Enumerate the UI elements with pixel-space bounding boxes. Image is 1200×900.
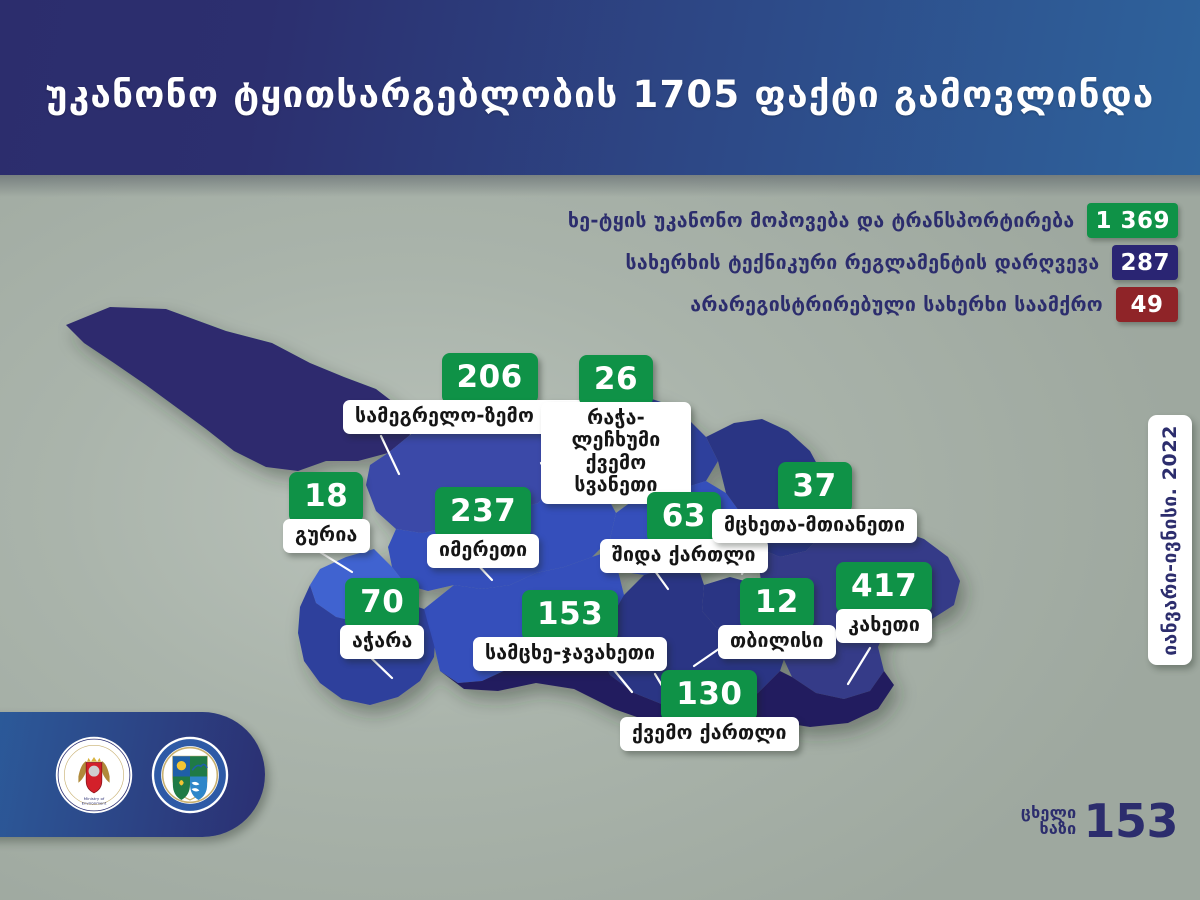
region-name-label: შიდა ქართლი bbox=[600, 539, 768, 573]
region-name-label: სამცხე-ჯავახეთი bbox=[473, 637, 667, 671]
ministry-logo-bar: Ministry of Environment bbox=[0, 712, 265, 837]
hotline-number: 153 bbox=[1083, 800, 1178, 842]
legend-label: ხე-ტყის უკანონო მოპოვება და ტრანსპორტირე… bbox=[568, 209, 1075, 232]
environmental-supervision-department-emblem-icon bbox=[151, 736, 229, 814]
region-name-label: კახეთი bbox=[836, 609, 932, 643]
legend-label: არარეგისტრირებული სახერხი საამქრო bbox=[690, 293, 1103, 316]
marker-tbilisi[interactable]: 12 თბილისი bbox=[718, 578, 836, 659]
date-range-tab: იანვარი-ივნისი. 2022 bbox=[1148, 415, 1192, 665]
region-name-label: მცხეთა-მთიანეთი bbox=[712, 509, 917, 543]
region-value-badge: 153 bbox=[522, 590, 618, 641]
legend-value-badge: 49 bbox=[1116, 287, 1178, 322]
marker-kakheti[interactable]: 417 კახეთი bbox=[836, 562, 932, 643]
marker-guria[interactable]: 18 გურია bbox=[283, 472, 370, 553]
svg-text:Environment: Environment bbox=[82, 800, 107, 805]
hotline-block: ცხელი ხაზი 153 bbox=[1021, 800, 1178, 842]
region-value-badge: 26 bbox=[579, 355, 653, 406]
region-value-badge: 237 bbox=[435, 487, 531, 538]
region-name-label: ქვემო ქართლი bbox=[620, 717, 799, 751]
region-value-badge: 206 bbox=[442, 353, 538, 404]
hotline-label: ცხელი ხაზი bbox=[1021, 805, 1077, 837]
region-value-badge: 18 bbox=[289, 472, 363, 523]
hotline-label-line2: ხაზი bbox=[1021, 821, 1077, 837]
region-name-label: თბილისი bbox=[718, 625, 836, 659]
region-value-badge: 12 bbox=[740, 578, 814, 629]
region-name-label: იმერეთი bbox=[427, 534, 539, 568]
legend-label: სახერხის ტექნიკური რეგლამენტის დარღვევა bbox=[626, 251, 1100, 274]
region-value-badge: 63 bbox=[647, 492, 721, 543]
legend-item-illegal-logging: ხე-ტყის უკანონო მოპოვება და ტრანსპორტირე… bbox=[568, 203, 1178, 238]
region-name-label: რაჭა-ლეჩხუმი ქვემო სვანეთი bbox=[541, 402, 691, 504]
page-title: უკანონო ტყითსარგებლობის 1705 ფაქტი გამოვ… bbox=[0, 0, 1200, 175]
marker-racha-lechkhumi-kvemo-svaneti[interactable]: 26 რაჭა-ლეჩხუმი ქვემო სვანეთი bbox=[541, 355, 691, 504]
region-value-badge: 130 bbox=[661, 670, 757, 721]
marker-samtskhe-javakheti[interactable]: 153 სამცხე-ჯავახეთი bbox=[473, 590, 667, 671]
legend-item-unregistered-sawmill: არარეგისტრირებული სახერხი საამქრო 49 bbox=[690, 287, 1178, 322]
legend-value-badge: 1 369 bbox=[1087, 203, 1178, 238]
ministry-of-environmental-protection-and-agriculture-emblem-icon: Ministry of Environment bbox=[55, 736, 133, 814]
region-value-badge: 417 bbox=[836, 562, 932, 613]
region-value-badge: 37 bbox=[778, 462, 852, 513]
region-value-badge: 70 bbox=[345, 578, 419, 629]
legend-value-badge: 287 bbox=[1112, 245, 1178, 280]
legend: ხე-ტყის უკანონო მოპოვება და ტრანსპორტირე… bbox=[568, 203, 1178, 322]
marker-adjara[interactable]: 70 აჭარა bbox=[340, 578, 424, 659]
region-name-label: აჭარა bbox=[340, 625, 424, 659]
date-range-label: იანვარი-ივნისი. 2022 bbox=[1159, 425, 1181, 656]
marker-kvemo-kartli[interactable]: 130 ქვემო ქართლი bbox=[620, 670, 799, 751]
legend-item-sawmill-regulation-violation: სახერხის ტექნიკური რეგლამენტის დარღვევა … bbox=[626, 245, 1179, 280]
marker-imereti[interactable]: 237 იმერეთი bbox=[427, 487, 539, 568]
region-name-label: გურია bbox=[283, 519, 370, 553]
marker-mtskheta-mtianeti[interactable]: 37 მცხეთა-მთიანეთი bbox=[712, 462, 917, 543]
header-banner: უკანონო ტყითსარგებლობის 1705 ფაქტი გამოვ… bbox=[0, 0, 1200, 175]
